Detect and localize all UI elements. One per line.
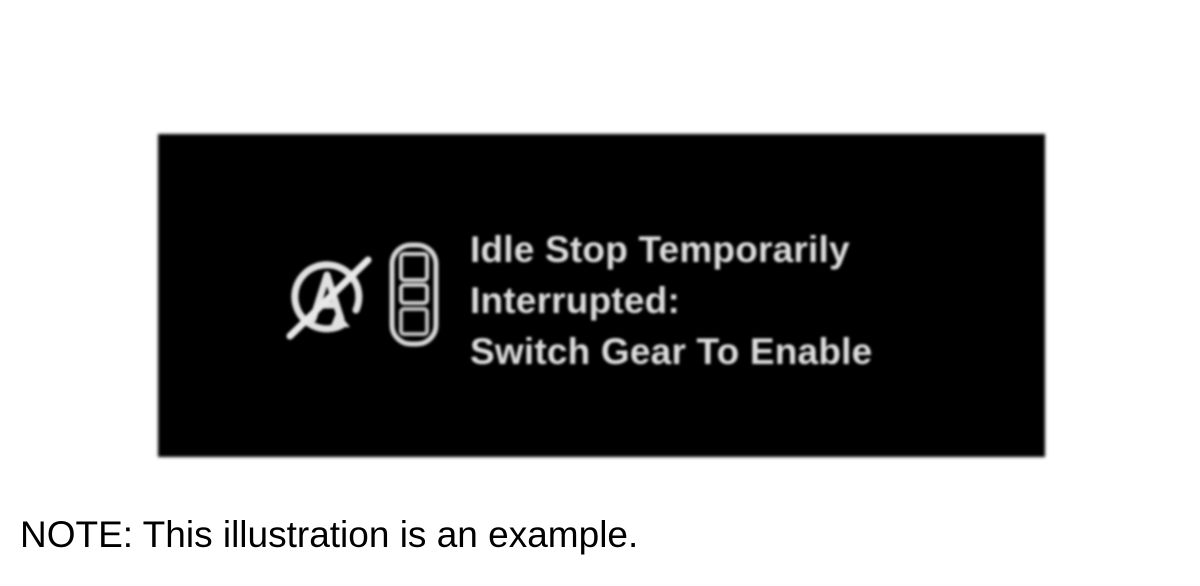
idle-stop-disabled-icon [280,248,376,344]
message-line-2: Interrupted: [470,275,1030,326]
display-message-text: Idle Stop Temporarily Interrupted: Switc… [470,224,1030,377]
warning-icon-cluster [280,242,450,352]
instrument-cluster-message-display: Idle Stop Temporarily Interrupted: Switc… [158,134,1045,457]
gear-selector-icon [388,242,440,347]
illustration-note-caption: NOTE: This illustration is an example. [20,512,638,558]
message-line-1: Idle Stop Temporarily [470,224,1030,275]
message-line-3: Switch Gear To Enable [470,326,1030,377]
